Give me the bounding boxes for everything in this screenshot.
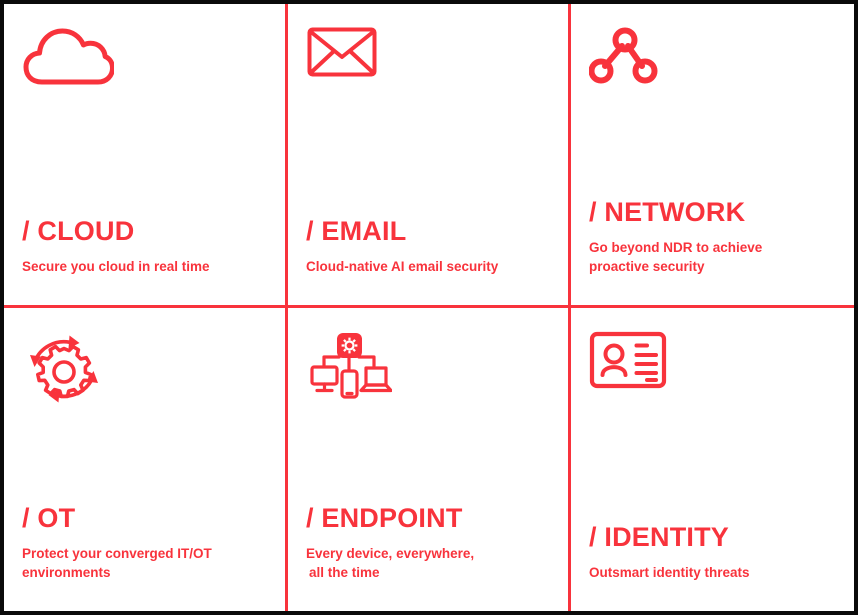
card-network[interactable]: / NETWORK Go beyond NDR to achieve proac… [568,4,854,305]
endpoint-bottom-pad [306,583,552,597]
product-pillars-grid: / CLOUD Secure you cloud in real time / … [0,0,858,615]
card-desc-ot-line2: environments [22,563,262,583]
cloud-spacer [22,108,269,217]
card-title-identity: / IDENTITY [589,523,838,551]
card-cloud[interactable]: / CLOUD Secure you cloud in real time [4,4,285,305]
grid-container: / CLOUD Secure you cloud in real time / … [4,4,854,611]
card-desc-endpoint-line1: Every device, everywhere, [306,546,474,561]
card-title-ot: / OT [22,504,269,532]
card-title-network: / NETWORK [589,198,838,226]
card-title-cloud: / CLOUD [22,217,269,245]
cloud-icon [22,26,269,108]
card-title-endpoint: / ENDPOINT [306,504,552,532]
card-desc-ot-line1: Protect your converged IT/OT [22,546,212,561]
envelope-icon [306,26,552,108]
card-desc-identity: Outsmart identity threats [589,563,829,583]
card-title-email: / EMAIL [306,217,552,245]
cloud-bottom-pad [22,277,269,291]
email-spacer [306,108,552,217]
card-desc-endpoint-line2: all the time [306,563,546,583]
card-desc-ot: Protect your converged IT/OT environment… [22,544,262,583]
network-spacer [589,108,838,198]
card-desc-email: Cloud-native AI email security [306,257,546,277]
gear-refresh-icon [22,330,269,412]
card-email[interactable]: / EMAIL Cloud-native AI email security [285,4,568,305]
card-desc-network: Go beyond NDR to achieve proactive secur… [589,238,829,277]
card-desc-cloud: Secure you cloud in real time [22,257,262,277]
card-desc-email-line1: Cloud-native AI email security [306,259,498,274]
id-card-icon [589,330,838,412]
network-bottom-pad [589,277,838,291]
ot-spacer [22,412,269,504]
network-nodes-icon [589,26,838,108]
card-desc-cloud-line1: Secure you cloud in real time [22,259,210,274]
identity-spacer [589,412,838,523]
email-bottom-pad [306,277,552,291]
card-ot[interactable]: / OT Protect your converged IT/OT enviro… [4,305,285,611]
endpoint-spacer [306,412,552,504]
card-desc-network-line1: Go beyond NDR to achieve [589,240,762,255]
card-desc-identity-line1: Outsmart identity threats [589,565,750,580]
devices-network-icon [306,330,552,412]
card-endpoint[interactable]: / ENDPOINT Every device, everywhere, all… [285,305,568,611]
identity-bottom-pad [589,583,838,597]
card-desc-network-line2: proactive security [589,257,829,277]
card-desc-endpoint: Every device, everywhere, all the time [306,544,546,583]
card-identity[interactable]: / IDENTITY Outsmart identity threats [568,305,854,611]
ot-bottom-pad [22,583,269,597]
